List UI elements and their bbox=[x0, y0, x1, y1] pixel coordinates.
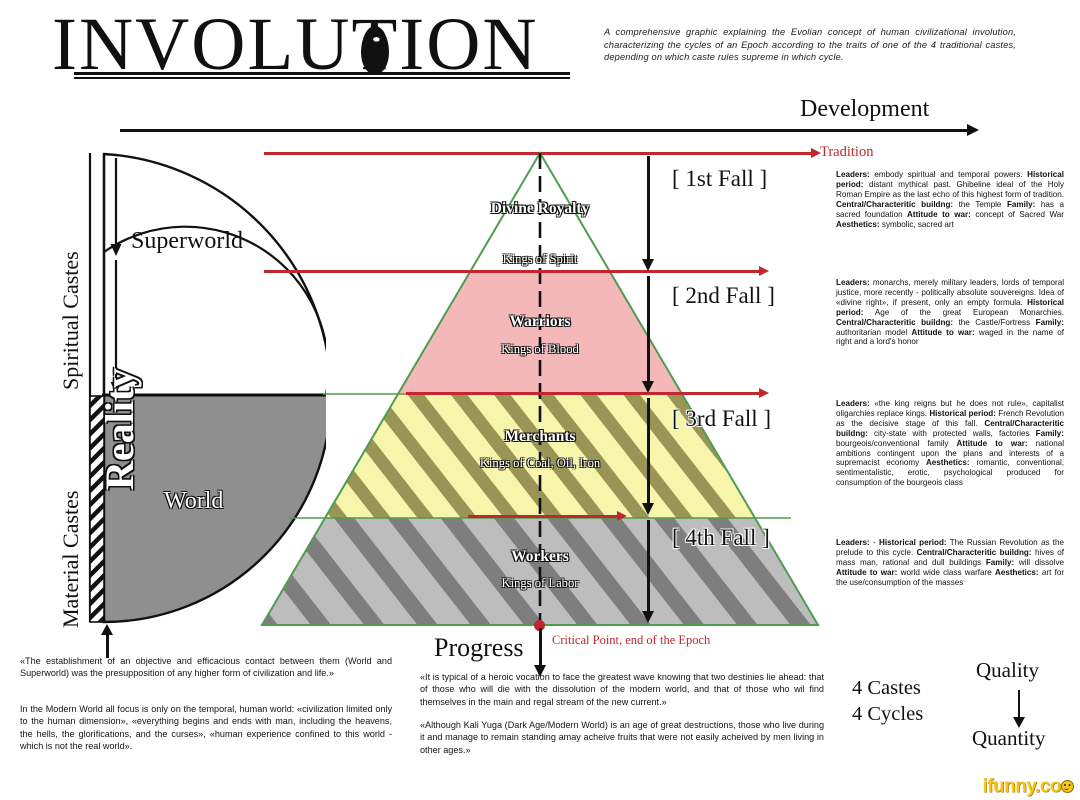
summary-castes: 4 Castes bbox=[852, 675, 923, 701]
fall-arrow-4 bbox=[647, 520, 650, 612]
caste-detail-3: Leaders: «the king reigns but he does no… bbox=[836, 399, 1064, 488]
fall-arrow-1 bbox=[647, 156, 650, 260]
title-rule-thick bbox=[74, 72, 570, 75]
quality-to-quantity-arrow-icon bbox=[1018, 690, 1020, 718]
tier-4-subtitle: Kings of Labor bbox=[390, 576, 690, 591]
spiritual-castes-label: Spiritual Castes bbox=[58, 251, 84, 390]
war-value-4: world wide class warfare bbox=[901, 568, 992, 577]
summary-castes-cycles: 4 Castes 4 Cycles bbox=[852, 675, 923, 727]
family-value-2: authoritarian model bbox=[836, 328, 907, 337]
tier-2-subtitle: Kings of Blood bbox=[390, 342, 690, 357]
progress-down-arrow-icon bbox=[539, 628, 542, 666]
superworld-label: Superworld bbox=[131, 228, 243, 255]
progress-label: Progress bbox=[434, 633, 524, 663]
leaders-label-3: Leaders: bbox=[836, 399, 870, 408]
war-label-1: Attitude to war: bbox=[907, 210, 971, 219]
leaders-value-4: - bbox=[873, 538, 876, 547]
tier-3-title: Merchants bbox=[420, 428, 660, 446]
tradition-arrow-tier-2 bbox=[264, 270, 760, 273]
family-label-1: Family: bbox=[1007, 200, 1035, 209]
caste-detail-1: Leaders: embody spiritual and temporal p… bbox=[836, 170, 1064, 229]
leaders-label-4: Leaders: bbox=[836, 538, 870, 547]
subtitle: A comprehensive graphic explaining the E… bbox=[604, 26, 1016, 64]
aesthetics-label-4: Aesthetics: bbox=[995, 568, 1039, 577]
caste-detail-4: Leaders: - Historical period: The Russia… bbox=[836, 538, 1064, 588]
fall-arrow-2 bbox=[647, 276, 650, 382]
war-value-1: concept of Sacred War bbox=[975, 210, 1064, 219]
family-label-3: Family: bbox=[1036, 429, 1064, 438]
period-label-3: Historical period: bbox=[929, 409, 996, 418]
note-left-1: «The establishment of an objective and e… bbox=[20, 655, 392, 680]
title-rule-thin bbox=[74, 77, 570, 79]
note-right-2: «Although Kali Yuga (Dark Age/Modern Wor… bbox=[420, 719, 824, 756]
evola-portrait-icon bbox=[361, 26, 389, 74]
reality-label: Reality bbox=[96, 368, 143, 490]
fall-label-3: [ 3rd Fall ] bbox=[672, 406, 771, 432]
fall-label-1: [ 1st Fall ] bbox=[672, 166, 767, 192]
leaders-label-2: Leaders: bbox=[836, 278, 870, 287]
page-title-text: INVOLUTION bbox=[52, 8, 612, 82]
tier-4-title: Workers bbox=[420, 548, 660, 566]
building-value-3: city-state with protected walls, factori… bbox=[874, 429, 1030, 438]
family-value-3: bourgeois/conventional family bbox=[836, 439, 948, 448]
fall-label-4: [ 4th Fall ] bbox=[672, 525, 770, 551]
summary-quality: Quality bbox=[976, 658, 1039, 683]
family-label-4: Family: bbox=[986, 558, 1014, 567]
period-value-2: Age of the great European Monarchies. bbox=[875, 308, 1064, 317]
fall-arrow-3 bbox=[647, 398, 650, 504]
summary-quantity: Quantity bbox=[972, 726, 1046, 751]
family-value-4: will dissolve bbox=[1019, 558, 1064, 567]
tier-2-title: Warriors bbox=[420, 313, 660, 331]
period-value-1: distant mythical past. Ghibeline ideal o… bbox=[836, 180, 1064, 199]
development-arrow bbox=[120, 129, 968, 132]
tier-3-subtitle: Kings of Coal, Oil, Iron bbox=[390, 456, 690, 471]
caste-detail-2: Leaders: monarchs, merely military leade… bbox=[836, 278, 1064, 347]
war-label-4: Attitude to war: bbox=[836, 568, 897, 577]
page-title: INVOLUTION bbox=[52, 8, 612, 88]
war-label-2: Attitude to war: bbox=[911, 328, 974, 337]
material-castes-label: Material Castes bbox=[58, 491, 84, 628]
note-right-1: «It is typical of a heroic vocation to f… bbox=[420, 671, 824, 708]
smiley-icon bbox=[1061, 780, 1074, 793]
building-label-2: Central/Characteritic buildng: bbox=[836, 318, 953, 327]
leaders-value-1: embody spiritual and temporal powers. bbox=[874, 170, 1022, 179]
building-label-4: Central/Characteritic buildng: bbox=[917, 548, 1032, 557]
war-label-3: Attitude to war: bbox=[957, 439, 1028, 448]
watermark-text: ifunny.co bbox=[982, 776, 1061, 797]
tradition-arrow-tier-3 bbox=[406, 392, 760, 395]
leaders-label-1: Leaders: bbox=[836, 170, 870, 179]
tradition-arrow-tier-4 bbox=[468, 515, 618, 518]
fall-label-2: [ 2nd Fall ] bbox=[672, 283, 775, 309]
summary-cycles: 4 Cycles bbox=[852, 701, 923, 727]
aesthetics-label-3: Aesthetics: bbox=[926, 458, 970, 467]
watermark: ifunny.co bbox=[982, 776, 1074, 798]
building-label-1: Central/Characteritic buildng: bbox=[836, 200, 953, 209]
tier-1-title: Divine Royalty bbox=[420, 200, 660, 218]
family-label-2: Family: bbox=[1036, 318, 1064, 327]
building-value-2: the Castle/Fortress bbox=[959, 318, 1031, 327]
world-label: World bbox=[164, 488, 223, 515]
aesthetics-value-1: symbolic, sacred art bbox=[882, 220, 954, 229]
note-left-2: In the Modern World all focus is only on… bbox=[20, 703, 392, 753]
period-label-4: Historical period: bbox=[879, 538, 947, 547]
critical-point-label: Critical Point, end of the Epoch bbox=[552, 633, 710, 648]
aesthetics-label-1: Aesthetics: bbox=[836, 220, 880, 229]
development-axis-label: Development bbox=[800, 96, 929, 123]
building-value-1: the Temple bbox=[959, 200, 1002, 209]
